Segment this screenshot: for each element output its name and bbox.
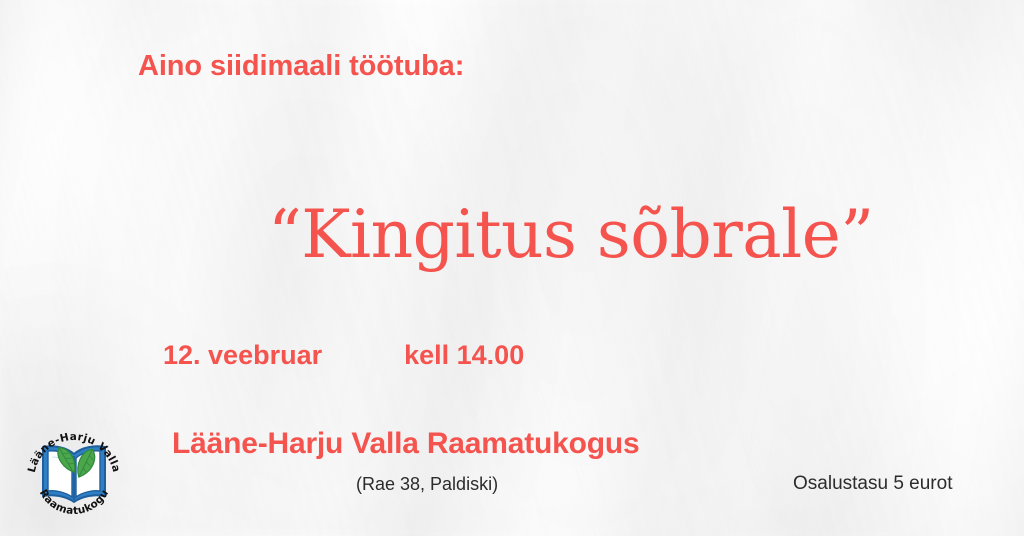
event-date: 12. veebruar xyxy=(163,340,322,371)
participation-fee: Osalustasu 5 eurot xyxy=(793,473,952,495)
library-logo-svg: Lääne-Harju Valla Raamatukogu xyxy=(22,420,126,520)
library-logo: Lääne-Harju Valla Raamatukogu xyxy=(22,420,126,520)
event-time: kell 14.00 xyxy=(404,340,524,371)
date-time-row: 12. veebruar kell 14.00 xyxy=(163,340,524,371)
event-address: (Rae 38, Paldiski) xyxy=(356,474,498,495)
event-venue: Lääne-Harju Valla Raamatukogus xyxy=(172,427,640,461)
poster-headline: “Kingitus sõbrale” xyxy=(268,196,874,273)
poster-canvas: Aino siidimaali töötuba: “Kingitus sõbra… xyxy=(0,0,1024,536)
workshop-kicker-text: Aino siidimaali töötuba: xyxy=(138,50,464,83)
open-book-icon xyxy=(43,446,105,502)
